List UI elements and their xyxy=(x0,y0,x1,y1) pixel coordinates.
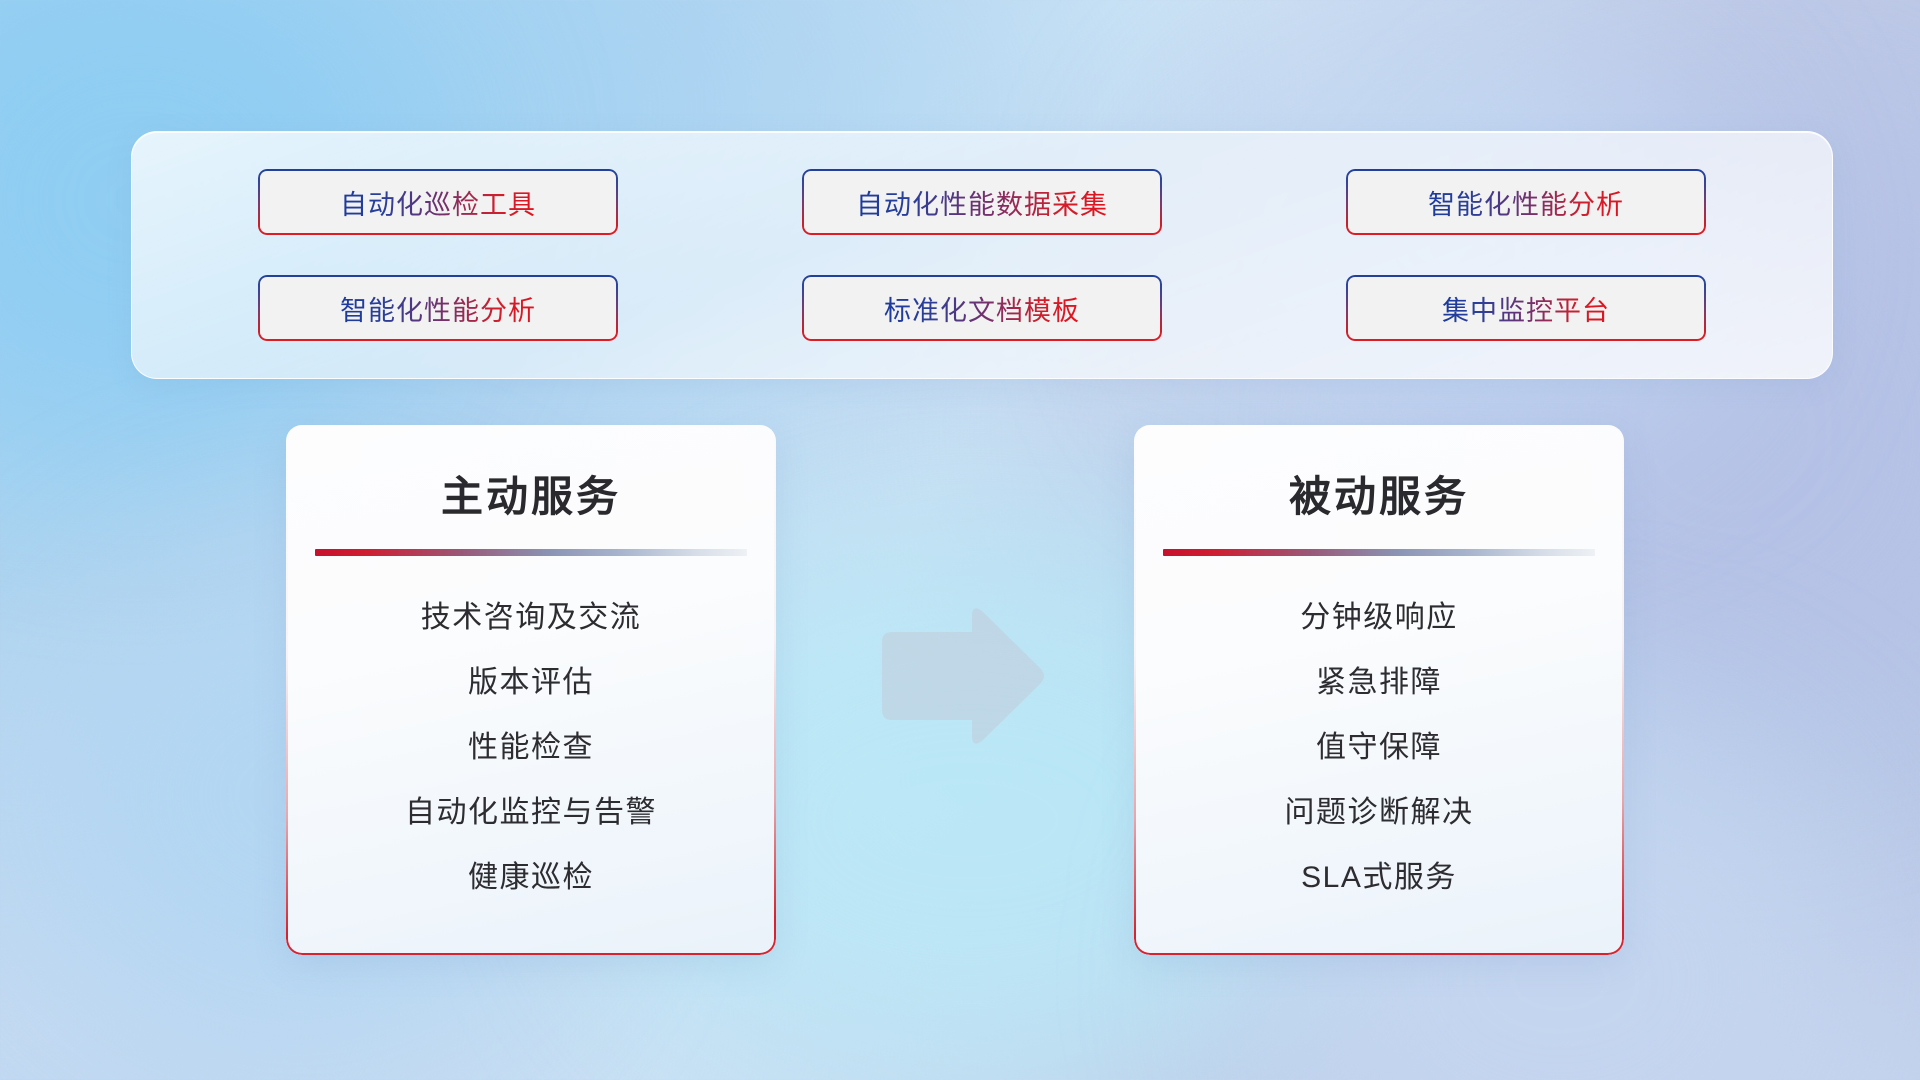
capability-tag-label: 集中监控平台 xyxy=(1442,289,1610,328)
list-item: 问题诊断解决 xyxy=(1285,787,1474,831)
capability-tag-intelligent-performance-analysis-2[interactable]: 智能化性能分析 xyxy=(258,275,618,341)
capability-tag-label: 自动化巡检工具 xyxy=(340,183,536,222)
capability-tag-grid: 自动化巡检工具 自动化性能数据采集 智能化性能分析 智能化性能分析 标准化文档模… xyxy=(132,132,1832,378)
service-card-reactive: 被动服务 分钟级响应 紧急排障 值守保障 问题诊断解决 SLA式服务 xyxy=(1134,425,1624,955)
list-item: 紧急排障 xyxy=(1316,657,1442,701)
list-item: SLA式服务 xyxy=(1301,852,1457,896)
right-arrow-icon xyxy=(876,602,1048,750)
card-divider xyxy=(1163,549,1595,556)
list-item: 健康巡检 xyxy=(468,852,594,896)
capability-tag-label: 标准化文档模板 xyxy=(884,289,1080,328)
list-item: 值守保障 xyxy=(1316,722,1442,766)
capability-tag-centralized-monitoring-platform[interactable]: 集中监控平台 xyxy=(1346,275,1706,341)
capability-tag-automation-inspection-tool[interactable]: 自动化巡检工具 xyxy=(258,169,618,235)
card-title: 主动服务 xyxy=(286,463,776,524)
capability-tag-label: 智能化性能分析 xyxy=(1428,183,1624,222)
capabilities-panel: 自动化巡检工具 自动化性能数据采集 智能化性能分析 智能化性能分析 标准化文档模… xyxy=(131,131,1833,379)
card-divider xyxy=(315,549,747,556)
capability-tag-automation-performance-data-collection[interactable]: 自动化性能数据采集 xyxy=(802,169,1162,235)
card-item-list: 分钟级响应 紧急排障 值守保障 问题诊断解决 SLA式服务 xyxy=(1134,592,1624,896)
card-title: 被动服务 xyxy=(1134,463,1624,524)
capability-tag-intelligent-performance-analysis-1[interactable]: 智能化性能分析 xyxy=(1346,169,1706,235)
capability-tag-label: 智能化性能分析 xyxy=(340,289,536,328)
list-item: 性能检查 xyxy=(468,722,594,766)
capability-tag-standardized-document-template[interactable]: 标准化文档模板 xyxy=(802,275,1162,341)
service-card-proactive: 主动服务 技术咨询及交流 版本评估 性能检查 自动化监控与告警 健康巡检 xyxy=(286,425,776,955)
card-item-list: 技术咨询及交流 版本评估 性能检查 自动化监控与告警 健康巡检 xyxy=(286,592,776,896)
list-item: 自动化监控与告警 xyxy=(405,787,657,831)
list-item: 分钟级响应 xyxy=(1300,592,1458,636)
capability-tag-label: 自动化性能数据采集 xyxy=(856,183,1108,222)
list-item: 版本评估 xyxy=(468,657,594,701)
list-item: 技术咨询及交流 xyxy=(421,592,642,636)
